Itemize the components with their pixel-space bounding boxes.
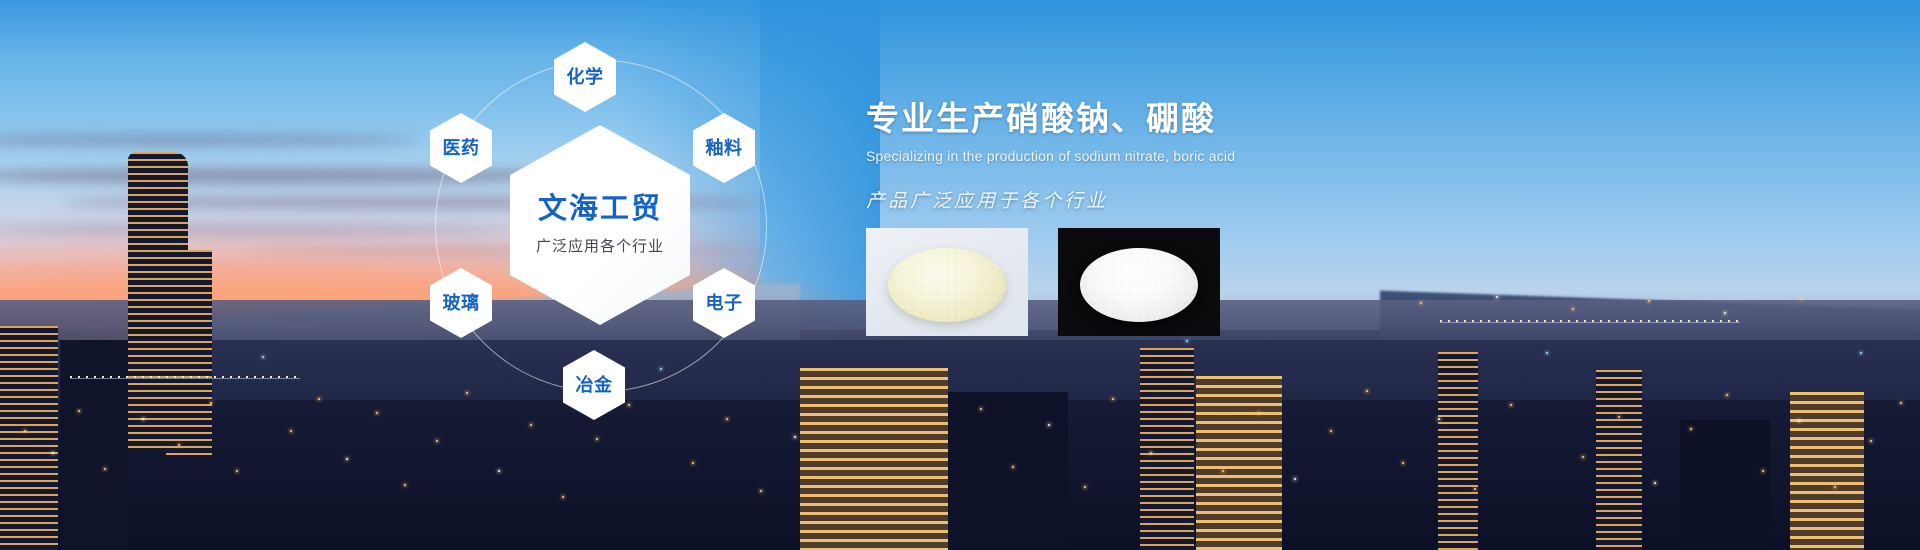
powder-pile	[888, 248, 1006, 322]
hex-node-label: 冶金	[576, 376, 613, 394]
brand-name: 文海工贸	[538, 194, 662, 226]
powder-grain-texture	[888, 248, 1006, 322]
promo-banner: 化学 釉料 电子 冶金 玻璃 医药 文海工贸 广泛应用各个行业 专业生产硝酸钠、…	[0, 0, 1920, 550]
product-photo-boric-acid[interactable]	[1058, 228, 1220, 336]
product-photo-sodium-nitrate[interactable]	[866, 228, 1028, 336]
hex-node-label: 玻璃	[443, 294, 480, 312]
powder-grain-texture	[1080, 248, 1198, 322]
hex-node-label: 化学	[567, 68, 604, 86]
powder-pile	[1080, 248, 1198, 322]
product-photo-strip	[866, 228, 1220, 336]
tagline: 产品广泛应用于各个行业	[866, 186, 1426, 213]
headline-english: Specializing in the production of sodium…	[866, 148, 1426, 164]
hex-node-label: 电子	[706, 294, 743, 312]
headline: 专业生产硝酸钠、硼酸	[866, 100, 1426, 139]
brand-tagline: 广泛应用各个行业	[536, 235, 664, 256]
promo-copy: 专业生产硝酸钠、硼酸 Specializing in the productio…	[866, 100, 1426, 213]
hex-node-label: 釉料	[706, 139, 743, 157]
industry-hex-diagram: 化学 釉料 电子 冶金 玻璃 医药 文海工贸 广泛应用各个行业	[430, 30, 770, 430]
hex-node-label: 医药	[443, 139, 480, 157]
